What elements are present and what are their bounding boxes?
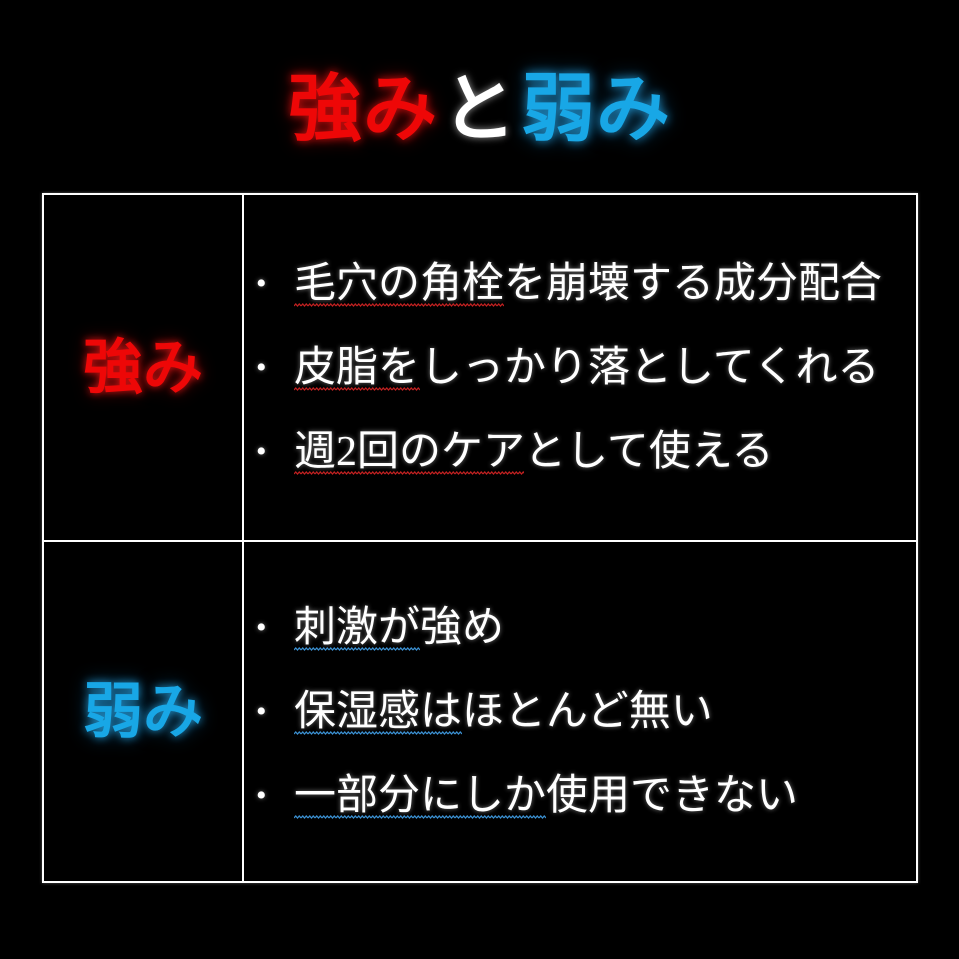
list-item: • 保湿感はほとんど無い [256, 670, 916, 754]
list-item-plain-text: として使える [524, 429, 773, 475]
title-strength-word: 強み [288, 69, 438, 151]
bullet-dot-icon: • [256, 670, 294, 754]
bullet-dot-icon: • [256, 326, 294, 410]
bullet-list-weakness: • 刺激が強め • 保湿感はほとんど無い • 一部分にしか使用できない [256, 586, 916, 838]
table-cell-label-weakness: 弱み [44, 542, 242, 881]
bullet-dot-icon: • [256, 754, 294, 838]
list-item-text: 皮脂をしっかり落としてくれる [294, 326, 880, 410]
list-item-plain-text: しっかり落としてくれる [420, 345, 879, 391]
list-item-plain-text: ほとんど無い [462, 689, 713, 735]
bullet-dot-icon: • [256, 586, 294, 670]
table-cell-items-weakness: • 刺激が強め • 保湿感はほとんど無い • 一部分にしか使用できない [242, 542, 916, 881]
grammarcheck-marked-text: 刺激が [294, 605, 420, 653]
table-cell-label-strength: 強み [44, 195, 242, 540]
page-title: 強みと弱み [0, 66, 959, 154]
title-weakness-word: 弱み [521, 69, 671, 151]
list-item: • 毛穴の角栓を崩壊する成分配合 [256, 242, 916, 326]
list-item-text: 毛穴の角栓を崩壊する成分配合 [294, 242, 882, 326]
title-conjunction: と [438, 69, 521, 151]
list-item: • 週2回のケアとして使える [256, 410, 916, 494]
bullet-dot-icon: • [256, 410, 294, 494]
list-item-plain-text: 使用できない [546, 773, 798, 819]
table-row-strength: 強み • 毛穴の角栓を崩壊する成分配合 • 皮脂をしっかり落としてくれる • 週… [44, 195, 916, 540]
grammarcheck-marked-text: 一部分にしか [294, 773, 546, 821]
table-row-weakness: 弱み • 刺激が強め • 保湿感はほとんど無い • 一部分にしか使用できない [44, 540, 916, 881]
list-item-text: 刺激が強め [294, 586, 504, 670]
list-item-plain-text: を崩壊する成分配合 [504, 261, 882, 307]
list-item-text: 保湿感はほとんど無い [294, 670, 713, 754]
list-item-text: 週2回のケアとして使える [294, 410, 774, 494]
list-item-text: 一部分にしか使用できない [294, 754, 798, 838]
row-label-strength: 強み [83, 333, 203, 403]
comparison-table: 強み • 毛穴の角栓を崩壊する成分配合 • 皮脂をしっかり落としてくれる • 週… [42, 193, 918, 883]
list-item: • 皮脂をしっかり落としてくれる [256, 326, 916, 410]
list-item: • 一部分にしか使用できない [256, 754, 916, 838]
spellcheck-marked-text: 皮脂を [294, 345, 420, 393]
table-cell-items-strength: • 毛穴の角栓を崩壊する成分配合 • 皮脂をしっかり落としてくれる • 週2回の… [242, 195, 916, 540]
grammarcheck-marked-text: 保湿感は [294, 689, 462, 737]
slide-root: 強みと弱み 強み • 毛穴の角栓を崩壊する成分配合 • 皮脂をしっかり落としてく… [0, 0, 959, 959]
spellcheck-marked-text: 毛穴の角栓 [294, 261, 504, 309]
list-item: • 刺激が強め [256, 586, 916, 670]
bullet-dot-icon: • [256, 242, 294, 326]
list-item-plain-text: 強め [420, 605, 504, 651]
bullet-list-strength: • 毛穴の角栓を崩壊する成分配合 • 皮脂をしっかり落としてくれる • 週2回の… [256, 242, 916, 494]
row-label-weakness: 弱み [83, 677, 203, 747]
spellcheck-marked-text: 週2回のケア [294, 429, 524, 477]
